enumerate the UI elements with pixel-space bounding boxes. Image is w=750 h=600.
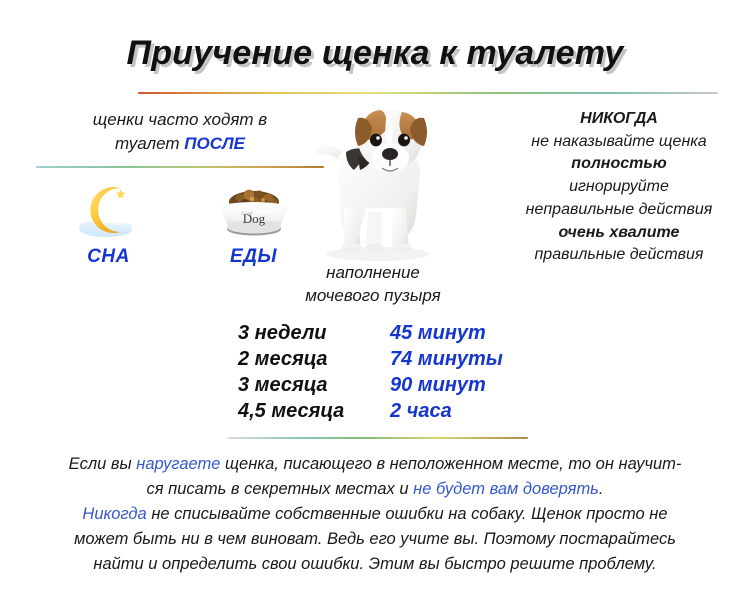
paragraph-line-3: Никогда не списывайте собственные ошибки…	[30, 502, 720, 527]
bladder-capacity-table: 3 недели 45 минут 2 месяца 74 минуты 3 м…	[238, 322, 528, 426]
table-cell-age: 2 месяца	[238, 348, 390, 371]
divider-top	[138, 92, 718, 94]
left-heading-accent: ПОСЛЕ	[184, 134, 245, 153]
table-row: 3 месяца 90 минут	[238, 374, 528, 400]
paragraph-highlight: не будет вам доверять	[413, 480, 599, 498]
table-cell-age: 4,5 месяца	[238, 400, 390, 423]
paragraph-text: ся писать в секретных местах и	[147, 480, 414, 498]
page-title: Приучение щенка к туалету	[127, 34, 624, 73]
table-cell-age: 3 недели	[238, 322, 390, 345]
right-advice-block: НИКОГДА не наказывайте щенка полностью и…	[492, 108, 746, 267]
left-heading-line2: туалет	[115, 134, 184, 153]
table-row: 2 месяца 74 минуты	[238, 348, 528, 374]
table-cell-age: 3 месяца	[238, 374, 390, 397]
right-line-7: правильные действия	[492, 244, 746, 267]
divider-left	[36, 166, 324, 168]
jack-russell-terrier-puppy-photo	[296, 96, 476, 268]
paragraph-highlight: Никогда	[82, 505, 146, 523]
bladder-caption-line1: наполнение	[326, 263, 420, 282]
right-line-1: НИКОГДА	[492, 108, 746, 131]
bladder-caption: наполнение мочевого пузыря	[258, 262, 488, 308]
right-line-3: полностью	[492, 153, 746, 176]
paragraph-line-4: может быть ни в чем виноват. Ведь его уч…	[30, 527, 720, 552]
right-line-4: игнорируйте	[492, 176, 746, 199]
paragraph-line-1: Если вы наругаете щенка, писающего в неп…	[30, 452, 720, 477]
svg-text:Good: Good	[241, 212, 253, 217]
divider-bottom	[228, 437, 528, 439]
right-line-5: неправильные действия	[492, 199, 746, 222]
icon-cell-sleep: СНА	[49, 178, 169, 268]
bladder-caption-line2: мочевого пузыря	[305, 286, 441, 305]
paragraph-line-2: ся писать в секретных местах и не будет …	[30, 477, 720, 502]
paragraph-text: Если вы	[69, 455, 137, 473]
table-row: 4,5 месяца 2 часа	[238, 400, 528, 426]
paragraph-highlight: наругаете	[136, 455, 220, 473]
table-cell-time: 90 минут	[390, 374, 528, 397]
right-line-6: очень хвалите	[492, 222, 746, 245]
left-heading: щенки часто ходят в туалет ПОСЛЕ	[30, 108, 330, 156]
right-line-2: не наказывайте щенка	[492, 131, 746, 154]
title-container: Приучение щенка к туалету	[0, 34, 750, 73]
table-cell-time: 45 минут	[390, 322, 528, 345]
left-heading-line1: щенки часто ходят в	[93, 110, 267, 129]
infographic-page: Приучение щенка к туалету щенки часто хо…	[0, 0, 750, 600]
advice-paragraph: Если вы наругаете щенка, писающего в неп…	[30, 452, 720, 577]
table-row: 3 недели 45 минут	[238, 322, 528, 348]
paragraph-text: .	[599, 480, 604, 498]
table-cell-time: 2 часа	[390, 400, 528, 423]
icon-label-sleep: СНА	[49, 246, 169, 268]
paragraph-text: не списывайте собственные ошибки на соба…	[147, 505, 668, 523]
paragraph-line-5: найти и определить свои ошибки. Этим вы …	[30, 552, 720, 577]
paragraph-text: щенка, писающего в неположенном месте, т…	[220, 455, 681, 473]
table-cell-time: 74 минуты	[390, 348, 528, 371]
crescent-moon-star-icon	[49, 178, 169, 240]
left-icon-row: СНА	[36, 178, 326, 268]
